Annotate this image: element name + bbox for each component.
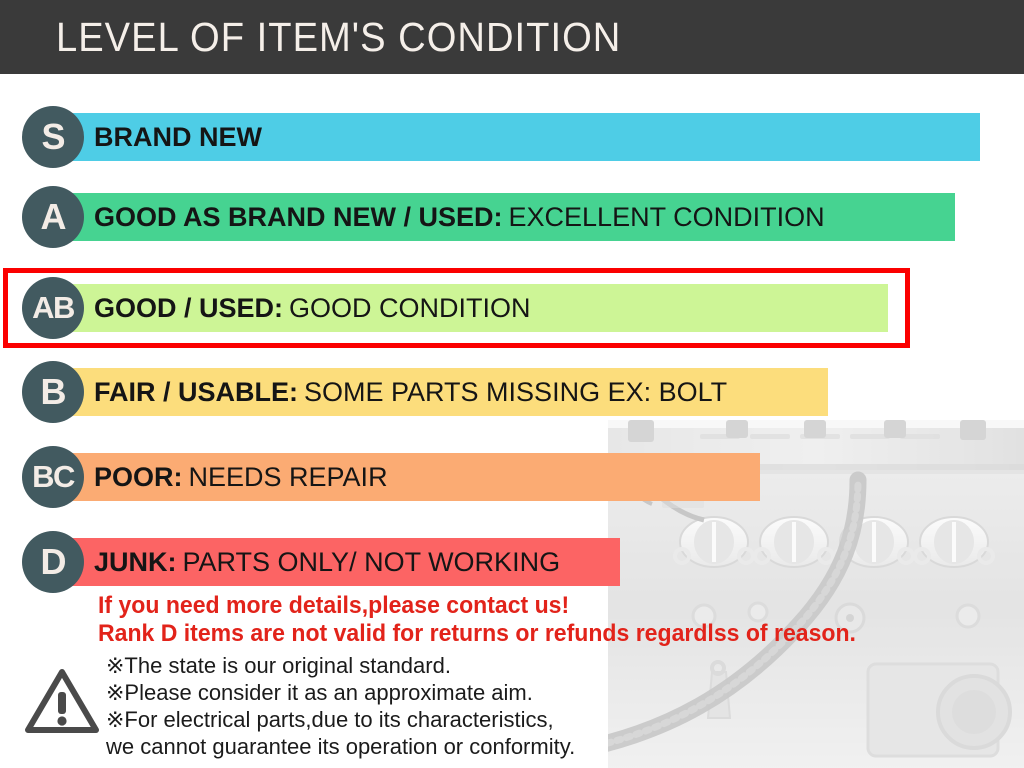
rank-text-bc: POOR:NEEDS REPAIR <box>94 446 388 508</box>
rank-label: POOR: <box>94 462 183 493</box>
rank-text-s: BRAND NEW <box>94 106 268 168</box>
rank-row-a: A GOOD AS BRAND NEW / USED:EXCELLENT CON… <box>0 186 1024 248</box>
rank-detail: EXCELLENT CONDITION <box>509 202 825 233</box>
rank-label: GOOD / USED: <box>94 293 283 324</box>
page-title: LEVEL OF ITEM'S CONDITION <box>56 14 621 61</box>
rank-detail: PARTS ONLY/ NOT WORKING <box>183 547 561 578</box>
rank-label: FAIR / USABLE: <box>94 377 298 408</box>
rank-label: GOOD AS BRAND NEW / USED: <box>94 202 503 233</box>
disclaimer-line-1: ※The state is our original standard. <box>106 652 575 679</box>
rank-row-s: S BRAND NEW <box>0 106 1024 168</box>
warning-triangle-icon <box>24 666 100 736</box>
red-notice-line-2: Rank D items are not valid for returns o… <box>98 620 856 648</box>
rank-badge-a: A <box>22 186 84 248</box>
rank-text-a: GOOD AS BRAND NEW / USED:EXCELLENT CONDI… <box>94 186 825 248</box>
rank-badge-ab: AB <box>22 277 84 339</box>
rank-row-b: B FAIR / USABLE:SOME PARTS MISSING EX: B… <box>0 361 1024 423</box>
rank-label: JUNK: <box>94 547 177 578</box>
rank-detail: SOME PARTS MISSING EX: BOLT <box>304 377 727 408</box>
rank-badge-d: D <box>22 531 84 593</box>
rank-badge-b: B <box>22 361 84 423</box>
disclaimer-line-4: we cannot guarantee its operation or con… <box>106 733 575 760</box>
rank-detail: GOOD CONDITION <box>289 293 531 324</box>
red-notice: If you need more details,please contact … <box>98 592 856 648</box>
red-notice-line-1: If you need more details,please contact … <box>98 592 856 620</box>
rank-text-d: JUNK:PARTS ONLY/ NOT WORKING <box>94 531 560 593</box>
rank-row-ab: AB GOOD / USED:GOOD CONDITION <box>0 277 1024 339</box>
disclaimer-line-3: ※For electrical parts,due to its charact… <box>106 706 575 733</box>
disclaimer-text: ※The state is our original standard. ※Pl… <box>106 652 575 760</box>
rank-row-d: D JUNK:PARTS ONLY/ NOT WORKING <box>0 531 1024 593</box>
rank-text-ab: GOOD / USED:GOOD CONDITION <box>94 277 531 339</box>
rank-badge-s: S <box>22 106 84 168</box>
disclaimer-line-2: ※Please consider it as an approximate ai… <box>106 679 575 706</box>
rank-row-bc: BC POOR:NEEDS REPAIR <box>0 446 1024 508</box>
header-bar: LEVEL OF ITEM'S CONDITION <box>0 0 1024 74</box>
rank-detail: NEEDS REPAIR <box>189 462 388 493</box>
rank-label: BRAND NEW <box>94 122 262 153</box>
rank-text-b: FAIR / USABLE:SOME PARTS MISSING EX: BOL… <box>94 361 727 423</box>
rank-badge-bc: BC <box>22 446 84 508</box>
